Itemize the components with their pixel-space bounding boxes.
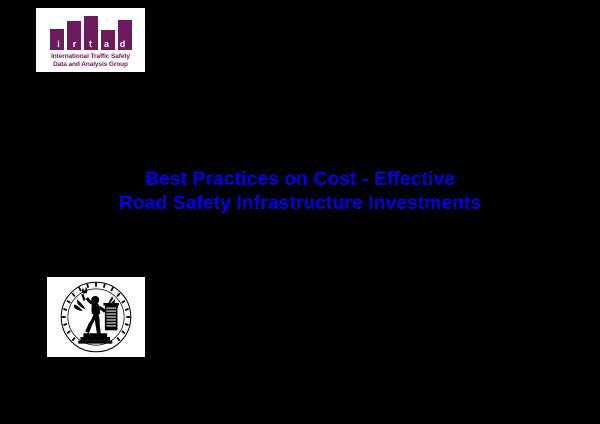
irtad-logo: i r t a d International Traffic Safety D… [36,8,145,72]
irtad-letter-i: i [52,39,66,49]
irtad-tagline: International Traffic Safety Data and An… [42,53,139,69]
irtad-tagline-line-1: International Traffic Safety [42,53,139,61]
irtad-letter-r: r [68,39,82,49]
irtad-letter-t: t [84,39,98,49]
ntua-logo [47,277,145,357]
irtad-bar-chart-icon: i r t a d [50,16,132,50]
irtad-tagline-line-2: Data and Analysis Group [42,61,139,69]
slide-title-line-1: Best Practices on Cost - Effective [0,168,600,192]
slide-title-line-2: Road Safety Infrastructure Investments [0,192,600,216]
ntua-seal-icon [59,280,133,354]
slide-title: Best Practices on Cost - Effective Road … [0,168,600,216]
irtad-wordmark: i r t a d [50,38,132,49]
irtad-letter-d: d [116,39,130,49]
irtad-letter-a: a [100,39,114,49]
